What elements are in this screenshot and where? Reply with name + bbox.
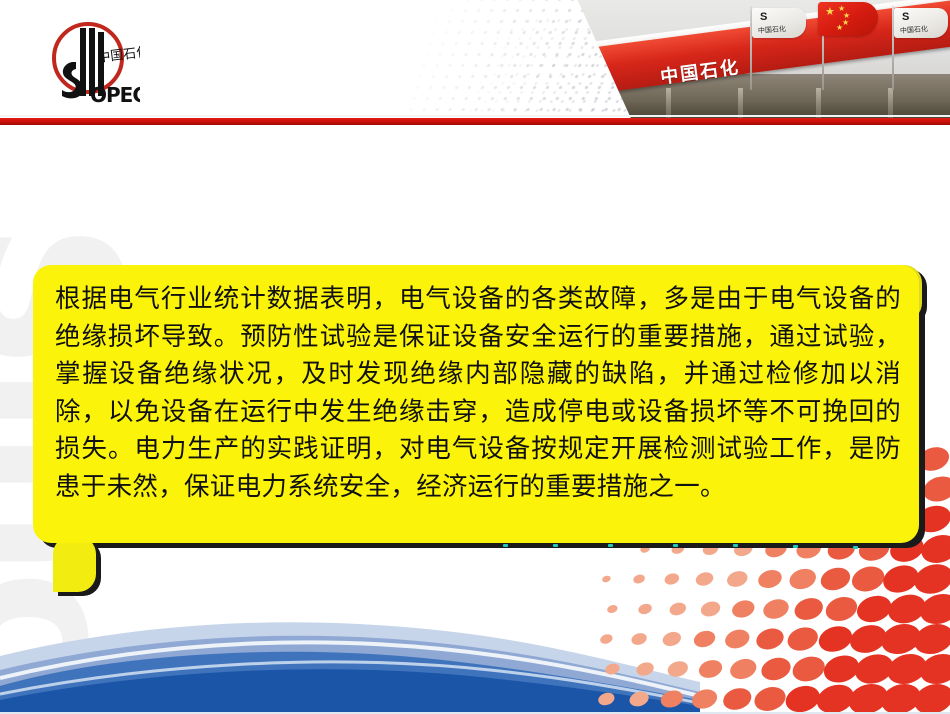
flag-star-large: ★	[825, 8, 835, 16]
halftone-dot	[635, 660, 656, 678]
halftone-dot	[697, 657, 725, 681]
speck	[553, 544, 558, 547]
flag-label: 中国石化	[900, 24, 929, 36]
station-pillar	[666, 88, 671, 118]
sinopec-logo-svg: OPEC 中国石化	[36, 18, 140, 110]
speck	[853, 546, 858, 549]
halftone-dot	[916, 649, 950, 689]
speck	[608, 544, 613, 547]
header-hairline	[0, 115, 950, 117]
flag-company-right: S 中国石化	[894, 8, 948, 38]
station-pillar	[816, 88, 821, 118]
callout-container: 根据电气行业统计数据表明，电气设备的各类故障，多是由于电气设备的绝缘损坏导致。预…	[33, 265, 928, 650]
sinopec-logo: OPEC 中国石化	[36, 18, 140, 110]
header-red-divider	[0, 118, 950, 125]
halftone-dot	[728, 656, 759, 683]
flag-logo-mark: S	[902, 12, 915, 24]
halftone-dot	[751, 683, 788, 714]
halftone-dot	[758, 654, 793, 684]
svg-text:OPEC: OPEC	[90, 83, 140, 107]
halftone-dot	[720, 685, 754, 714]
flag-star-small: ★	[836, 24, 843, 32]
halftone-dot	[910, 679, 950, 714]
speck	[793, 545, 798, 548]
slide-root: OPEC 中国石化 中国石化 S 中国石化	[0, 0, 950, 714]
station-pillar	[888, 88, 893, 118]
flag-company-left: S 中国石化	[752, 8, 806, 38]
flag-logo-mark: S	[760, 12, 773, 24]
halftone-dot	[628, 689, 651, 708]
speck	[503, 544, 508, 547]
sinopec-gas-station-photo: 中国石化 S 中国石化 ★ ★ ★ ★ ★ S 中国石化	[570, 0, 950, 118]
yellow-quote-callout: 根据电气行业统计数据表明，电气设备的各类故障，多是由于电气设备的绝缘损坏导致。预…	[33, 265, 919, 543]
slide-header: OPEC 中国石化 中国石化 S 中国石化	[0, 0, 950, 118]
flag-label: 中国石化	[758, 24, 787, 36]
station-pillar	[738, 88, 743, 118]
flag-china-national: ★ ★ ★ ★ ★	[818, 2, 878, 36]
speck	[733, 544, 738, 547]
halftone-dot	[666, 659, 690, 680]
speck	[673, 544, 678, 547]
halftone-dot	[789, 653, 828, 686]
callout-quote-tab-bottom-left	[53, 536, 96, 592]
callout-body-text: 根据电气行业统计数据表明，电气设备的各类故障，多是由于电气设备的绝缘损坏导致。预…	[55, 281, 901, 506]
halftone-dot	[597, 691, 616, 707]
halftone-dot	[782, 682, 823, 714]
halftone-dot	[659, 688, 686, 711]
halftone-dot	[689, 686, 719, 712]
slide-body: Sinopec 根据电气行业统计数据表明，电气设备的各类故障，多是由于电气设备的…	[0, 125, 950, 714]
halftone-dot	[604, 662, 621, 677]
